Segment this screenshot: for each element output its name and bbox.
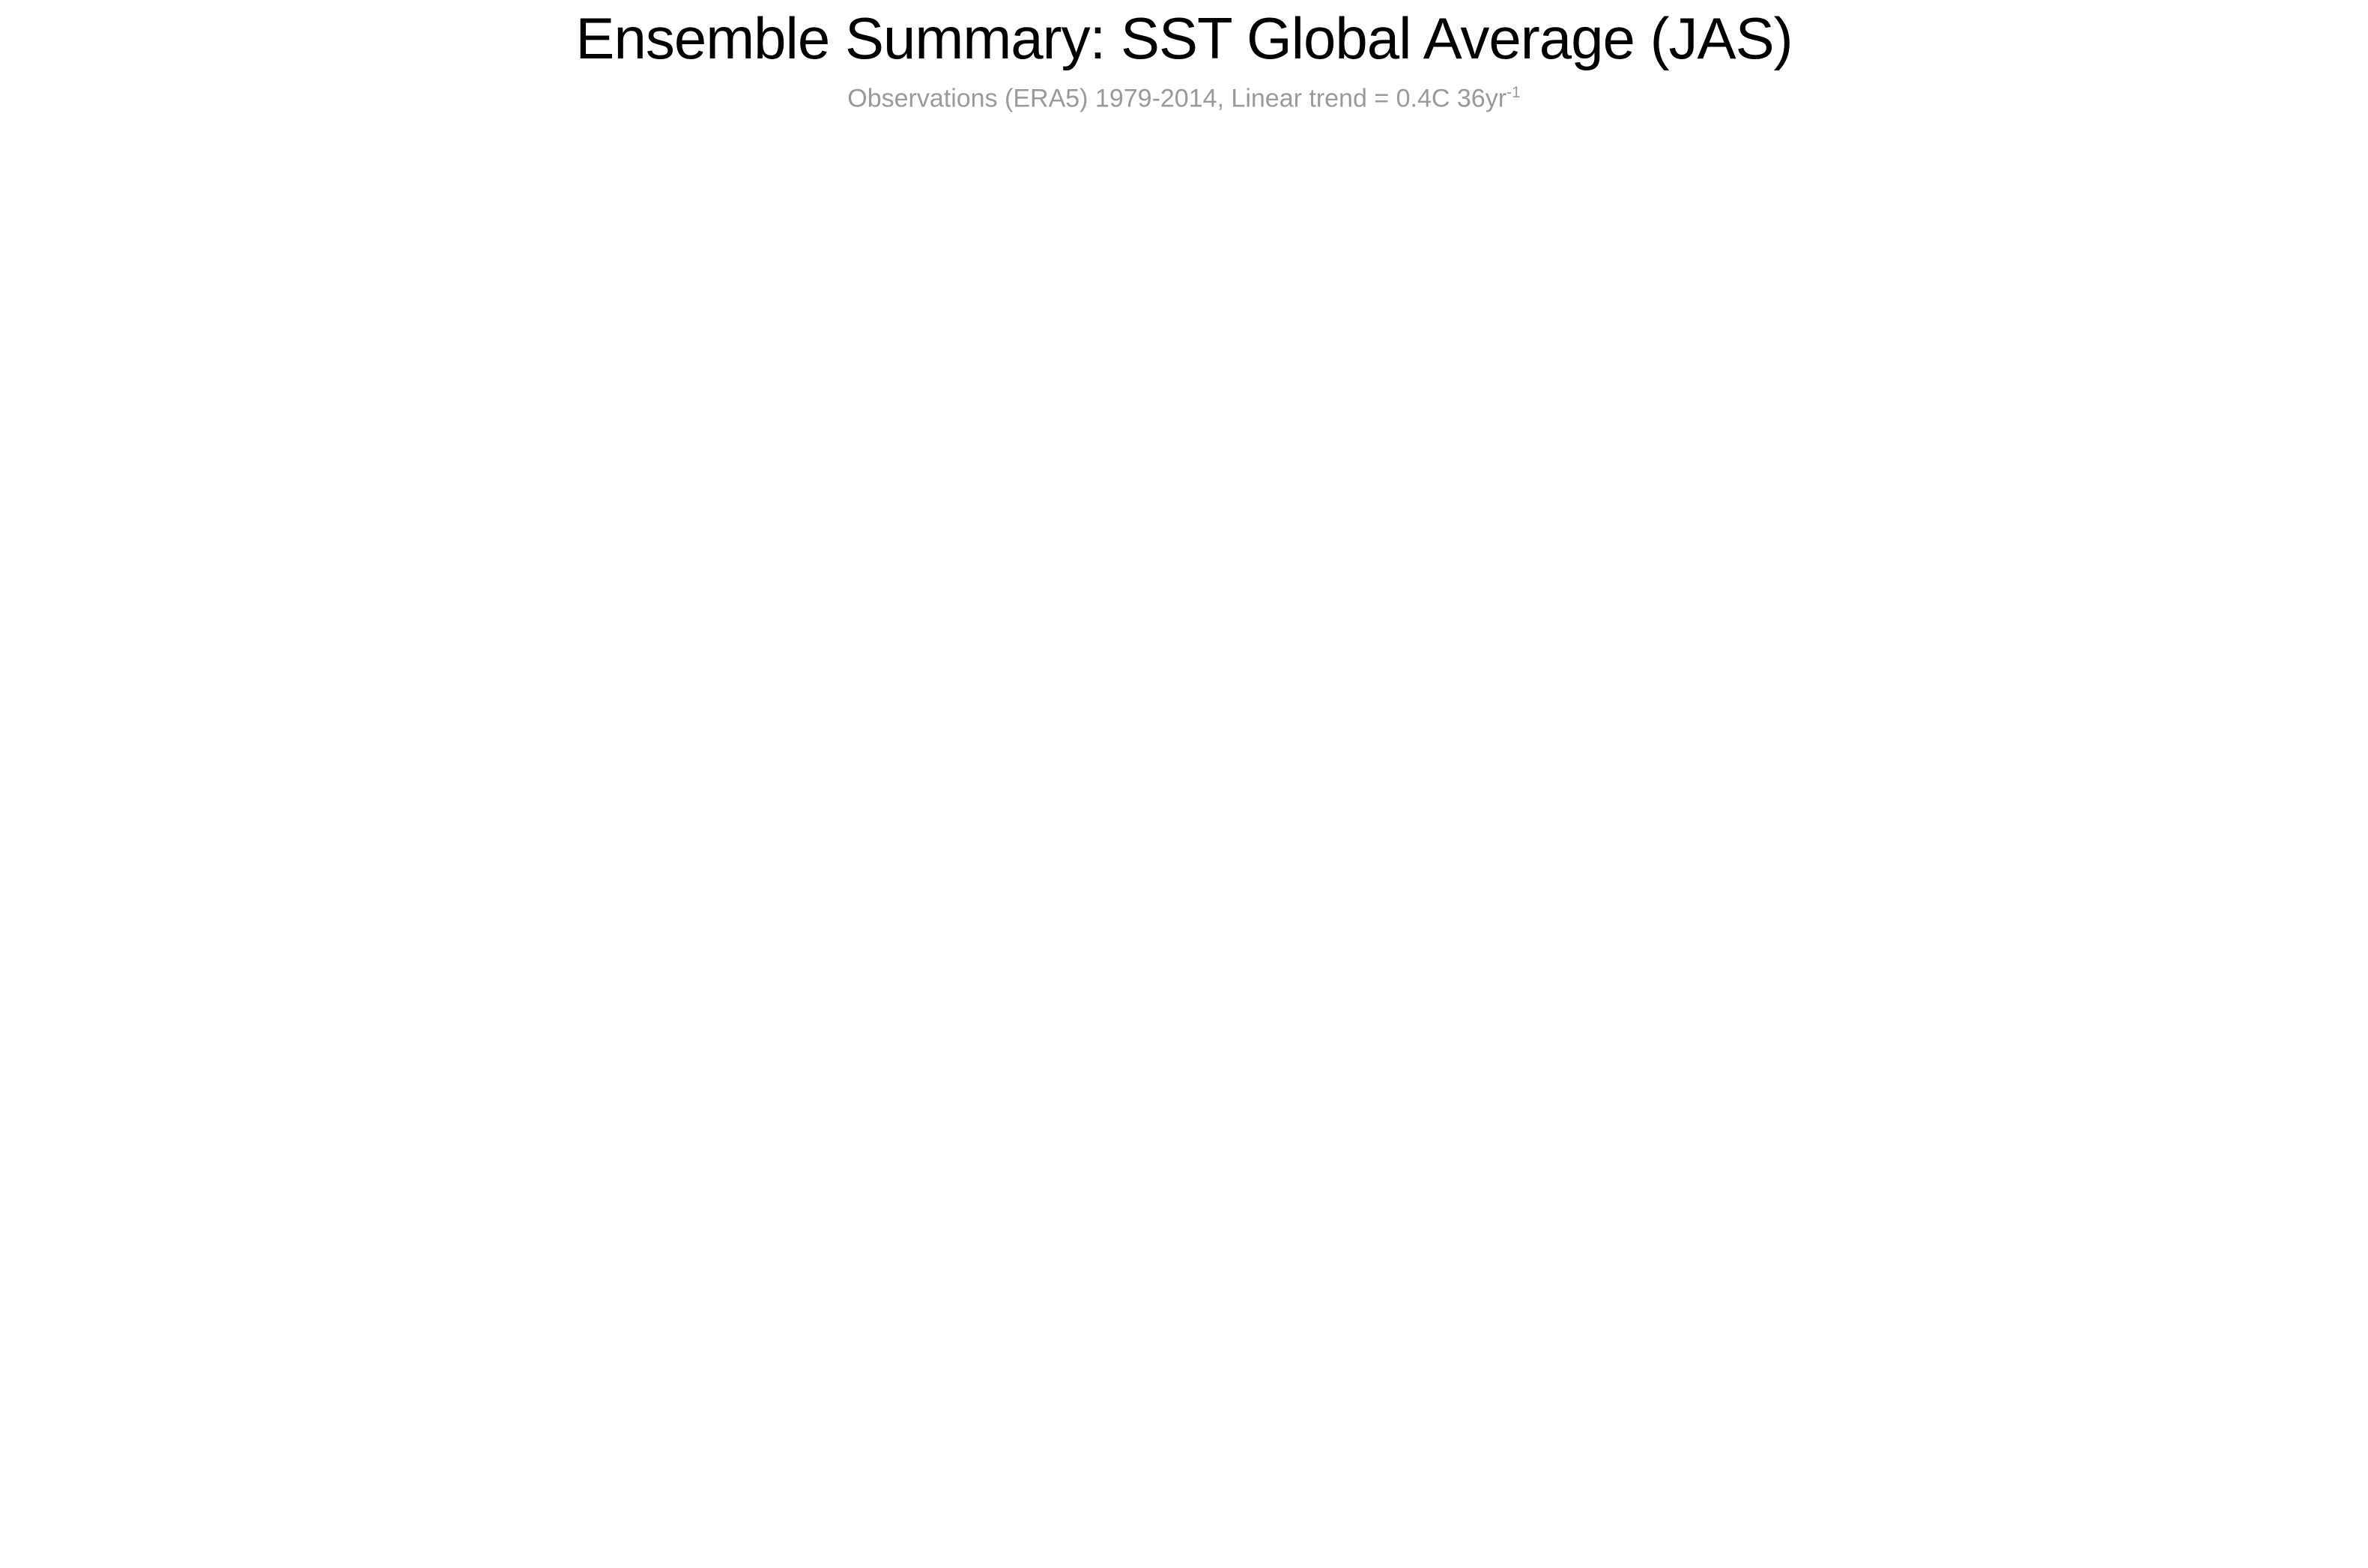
page-subtitle: Observations (ERA5) 1979-2014, Linear tr… <box>0 84 2368 113</box>
subtitle-exponent: -1 <box>1507 84 1521 101</box>
subtitle-text: Observations (ERA5) 1979-2014, Linear tr… <box>847 84 1507 112</box>
page-title: Ensemble Summary: SST Global Average (JA… <box>0 4 2368 73</box>
